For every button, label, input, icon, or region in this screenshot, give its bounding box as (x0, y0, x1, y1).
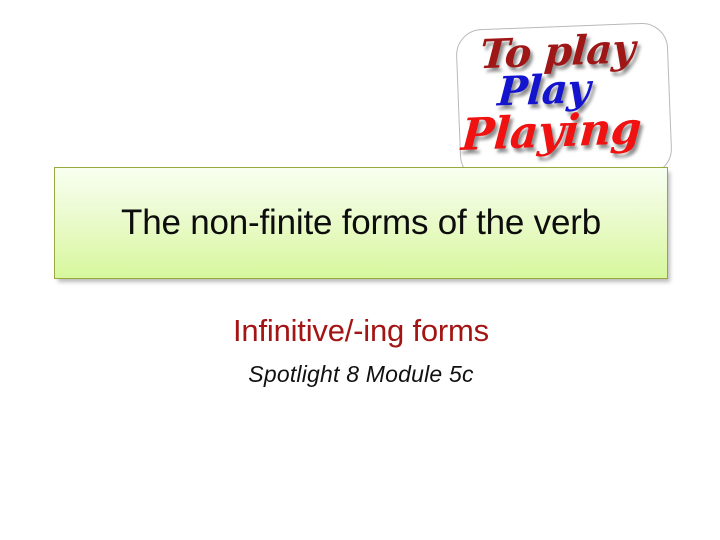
subtitle-primary: Infinitive/-ing forms (54, 312, 668, 349)
page-title: The non-finite forms of the verb (55, 204, 667, 243)
logo-word-stack: To play Play Playing (449, 10, 677, 190)
slide-title-box: The non-finite forms of the verb (54, 167, 668, 279)
subtitle-secondary: Spotlight 8 Module 5c (54, 361, 668, 389)
to-play-play-playing-logo: To play Play Playing (452, 14, 674, 186)
slide-subtitle-block: Infinitive/-ing forms Spotlight 8 Module… (54, 312, 668, 389)
logo-line-playing: Playing (460, 103, 643, 161)
presentation-slide: To play Play Playing The non-finite form… (0, 0, 720, 540)
